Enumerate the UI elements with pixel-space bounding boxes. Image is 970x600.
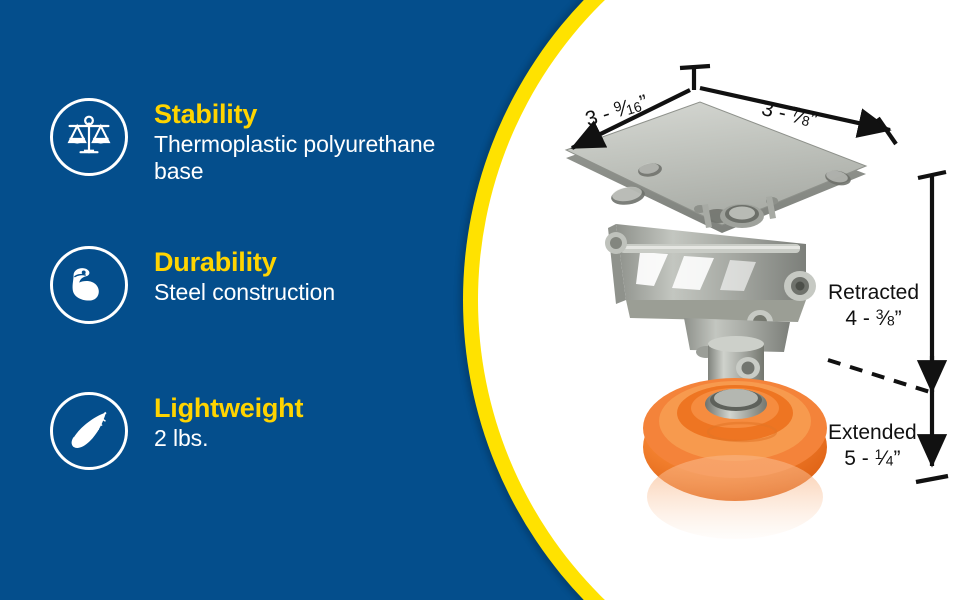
infographic-canvas: Stability Thermoplastic polyurethane bas…: [0, 0, 970, 600]
retracted-numerator: 3: [876, 306, 884, 322]
retracted-denominator: 8: [887, 312, 895, 328]
retracted-unit: ”: [895, 307, 902, 330]
extended-whole: 5 -: [844, 447, 874, 470]
plate-width-end-tick: [878, 118, 896, 144]
extended-value: 5 - 1⁄4”: [828, 446, 917, 472]
product-photo-and-dimensions: [0, 0, 970, 600]
retracted-label: Retracted: [828, 281, 919, 306]
retracted-value: 4 - 3⁄8”: [828, 306, 919, 332]
plate-width-numerator: 7: [791, 103, 802, 120]
extended-unit: ”: [894, 447, 901, 470]
dimension-label-retracted: Retracted 4 - 3⁄8”: [828, 281, 919, 331]
plate-width-whole: 3 -: [759, 97, 794, 126]
retracted-extended-divider: [828, 360, 930, 392]
vertical-bottom-tick: [916, 476, 948, 482]
caster-product-image: [566, 102, 866, 539]
retracted-whole: 4 -: [845, 307, 875, 330]
dimension-label-extended: Extended 5 - 1⁄4”: [828, 421, 917, 471]
extended-numerator: 1: [875, 446, 883, 462]
extended-label: Extended: [828, 421, 917, 446]
swivel-housing: [605, 224, 816, 358]
orange-tpu-wheel: [643, 378, 827, 539]
extended-denominator: 4: [886, 452, 894, 468]
